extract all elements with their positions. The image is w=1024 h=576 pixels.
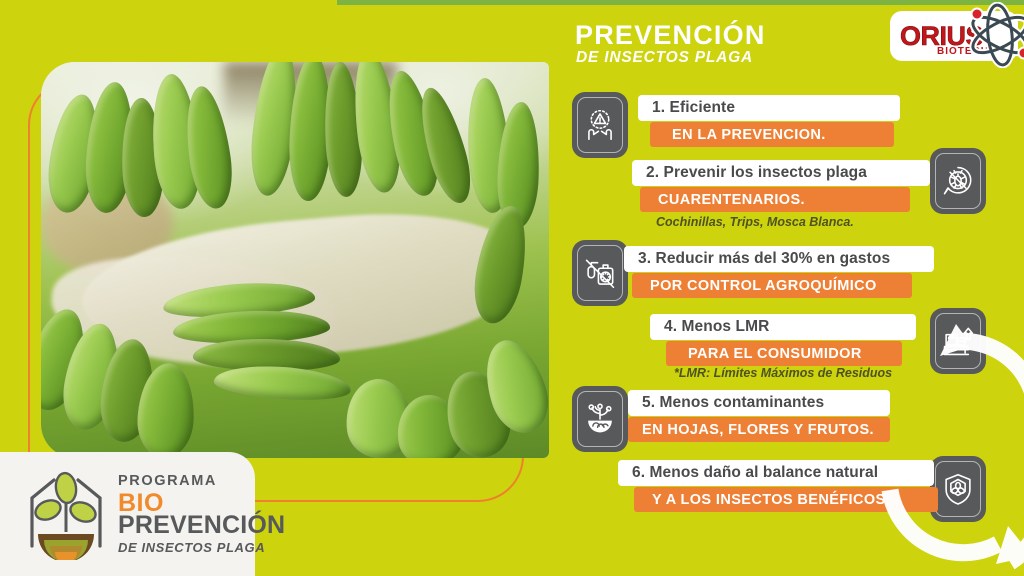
benefit-5-highlight: EN HOJAS, FLORES Y FRUTOS. bbox=[628, 417, 890, 442]
no-pesticide-sprayer-icon bbox=[572, 240, 628, 306]
hands-warning-triangle-icon bbox=[572, 92, 628, 158]
page-subtitle: DE INSECTOS PLAGA bbox=[576, 50, 753, 66]
badge-programa: PROGRAMA bbox=[118, 474, 285, 489]
right-content-column: PREVENCIÓN DE INSECTOS PLAGA ORIUS BIOTE… bbox=[560, 0, 1024, 576]
badge-prevencion: PREVENCIÓN bbox=[118, 513, 285, 538]
benefit-2-highlight: CUARENTENARIOS. bbox=[640, 187, 910, 212]
badge-text-block: PROGRAMA BIO PREVENCIÓN DE INSECTOS PLAG… bbox=[118, 474, 285, 554]
atom-icon bbox=[963, 2, 1024, 68]
bio-prevencion-badge: PROGRAMA BIO PREVENCIÓN DE INSECTOS PLAG… bbox=[0, 452, 255, 576]
badge-subtitle: DE INSECTOS PLAGA bbox=[118, 541, 285, 554]
benefit-3-title: 3. Reducir más del 30% en gastos bbox=[624, 246, 934, 272]
speech-bubble-no-bug-icon bbox=[930, 148, 986, 214]
benefit-2-note: Cochinillas, Trips, Mosca Blanca. bbox=[656, 215, 854, 229]
orius-logo[interactable]: ORIUS BIOTECH bbox=[893, 14, 1015, 58]
benefit-5-title: 5. Menos contaminantes bbox=[628, 390, 890, 416]
recycle-arrows-decoration bbox=[860, 294, 1024, 576]
benefit-1-title: 1. Eficiente bbox=[638, 95, 900, 121]
banana-photo bbox=[41, 62, 549, 458]
infographic-slide: PROGRAMA BIO PREVENCIÓN DE INSECTOS PLAG… bbox=[0, 0, 1024, 576]
plant-in-soil-bowl-icon bbox=[572, 386, 628, 452]
benefit-2-title: 2. Prevenir los insectos plaga bbox=[632, 160, 930, 186]
plant-sprout-icon bbox=[24, 468, 108, 560]
benefit-1-highlight: EN LA PREVENCION. bbox=[650, 122, 894, 147]
page-title: PREVENCIÓN bbox=[575, 22, 766, 49]
